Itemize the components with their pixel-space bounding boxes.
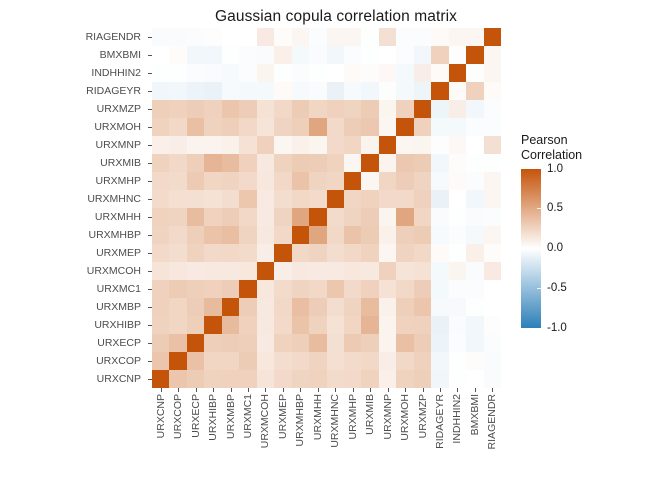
x-axis-label: URXMEP <box>278 394 289 439</box>
y-axis-label: URXCNP <box>0 370 145 388</box>
heatmap-cell <box>222 226 239 244</box>
heatmap-cell <box>449 298 466 316</box>
heatmap-cell <box>379 298 396 316</box>
heatmap-cell <box>327 100 344 118</box>
heatmap-cell <box>239 190 256 208</box>
heatmap-cell <box>431 226 448 244</box>
heatmap-cell <box>484 82 501 100</box>
heatmap-cell <box>169 100 186 118</box>
heatmap-cell <box>327 190 344 208</box>
heatmap-cell <box>396 100 413 118</box>
heatmap-panel <box>152 28 501 388</box>
heatmap-cell <box>379 172 396 190</box>
heatmap-cell <box>396 316 413 334</box>
x-axis-label: URXMCOH <box>260 394 271 448</box>
heatmap-cell <box>204 298 221 316</box>
heatmap-cell <box>274 28 291 46</box>
x-axis-label: RIDAGEYR <box>435 394 446 449</box>
heatmap-cell <box>169 82 186 100</box>
heatmap-cell <box>484 226 501 244</box>
heatmap-cell <box>152 370 169 388</box>
heatmap-cell <box>396 154 413 172</box>
heatmap-cell <box>344 46 361 64</box>
heatmap-cell <box>309 298 326 316</box>
heatmap-cell <box>169 352 186 370</box>
heatmap-cell <box>466 262 483 280</box>
heatmap-cell <box>152 28 169 46</box>
heatmap-cell <box>204 226 221 244</box>
heatmap-cell <box>466 244 483 262</box>
heatmap-cell <box>414 172 431 190</box>
heatmap-cell <box>344 136 361 154</box>
heatmap-cell <box>327 298 344 316</box>
heatmap-cell <box>379 46 396 64</box>
heatmap-cell <box>274 154 291 172</box>
heatmap-cell <box>222 352 239 370</box>
heatmap-cell <box>361 262 378 280</box>
legend-colorbar <box>521 169 541 328</box>
heatmap-cell <box>449 46 466 64</box>
heatmap-cell <box>466 370 483 388</box>
heatmap-cell <box>169 172 186 190</box>
heatmap-cell <box>466 100 483 118</box>
x-axis-label: URXMHNC <box>330 394 341 448</box>
x-axis-label: URXMNP <box>382 394 393 440</box>
heatmap-cell <box>152 226 169 244</box>
heatmap-cell <box>239 280 256 298</box>
heatmap-cell <box>327 280 344 298</box>
heatmap-cell <box>344 334 361 352</box>
x-axis-label-slot: URXMZP <box>414 394 431 476</box>
heatmap-cell <box>466 226 483 244</box>
heatmap-cell <box>484 136 501 154</box>
heatmap-cell <box>414 100 431 118</box>
heatmap-cell <box>414 28 431 46</box>
heatmap-cell <box>169 370 186 388</box>
heatmap-cell <box>466 118 483 136</box>
heatmap-cell <box>361 226 378 244</box>
y-axis-label: RIDAGEYR <box>0 82 145 100</box>
heatmap-cell <box>484 208 501 226</box>
heatmap-cell <box>309 208 326 226</box>
heatmap-cell <box>222 370 239 388</box>
heatmap-cell <box>309 370 326 388</box>
heatmap-cell <box>449 154 466 172</box>
heatmap-cell <box>309 82 326 100</box>
heatmap-cell <box>187 190 204 208</box>
heatmap-cell <box>222 334 239 352</box>
heatmap-cell <box>414 370 431 388</box>
heatmap-cell <box>239 334 256 352</box>
heatmap-cell <box>414 64 431 82</box>
heatmap-cell <box>361 154 378 172</box>
heatmap-cell <box>361 352 378 370</box>
y-axis-tick <box>145 298 152 316</box>
heatmap-cell <box>396 208 413 226</box>
x-axis-label-slot: URXECP <box>187 394 204 476</box>
heatmap-cell <box>484 316 501 334</box>
heatmap-cell <box>431 244 448 262</box>
heatmap-cell <box>344 316 361 334</box>
heatmap-cell <box>396 136 413 154</box>
heatmap-cell <box>239 172 256 190</box>
heatmap-cell <box>379 28 396 46</box>
x-axis-label: URXCOP <box>173 394 184 439</box>
x-axis-label: RIAGENDR <box>487 394 498 449</box>
heatmap-cell <box>361 298 378 316</box>
heatmap-cell <box>484 154 501 172</box>
heatmap-cell <box>152 316 169 334</box>
y-axis-tick <box>145 64 152 82</box>
heatmap-cell <box>414 244 431 262</box>
heatmap-cell <box>239 28 256 46</box>
heatmap-cell <box>466 46 483 64</box>
heatmap-cell <box>449 226 466 244</box>
heatmap-cell <box>204 118 221 136</box>
heatmap-cell <box>396 352 413 370</box>
heatmap-cell <box>484 370 501 388</box>
heatmap-cell <box>152 118 169 136</box>
heatmap-cell <box>204 154 221 172</box>
heatmap-cell <box>204 82 221 100</box>
y-axis-label: URXMCOH <box>0 262 145 280</box>
heatmap-cell <box>204 316 221 334</box>
heatmap-cell <box>222 64 239 82</box>
heatmap-cell <box>327 136 344 154</box>
heatmap-cell <box>152 208 169 226</box>
legend-tick-label: 1.0 <box>547 163 563 175</box>
heatmap-cell <box>222 298 239 316</box>
heatmap-cell <box>466 82 483 100</box>
heatmap-cell <box>169 154 186 172</box>
heatmap-cell <box>327 64 344 82</box>
heatmap-cell <box>292 28 309 46</box>
heatmap-cell <box>152 172 169 190</box>
heatmap-cell <box>344 64 361 82</box>
y-axis-tick <box>145 280 152 298</box>
heatmap-cell <box>187 352 204 370</box>
heatmap-cell <box>361 136 378 154</box>
heatmap-cell <box>257 100 274 118</box>
heatmap-cell <box>204 208 221 226</box>
heatmap-cell <box>222 46 239 64</box>
y-axis-tick <box>145 118 152 136</box>
heatmap-cell <box>309 136 326 154</box>
heatmap-cell <box>327 46 344 64</box>
heatmap-cell <box>257 352 274 370</box>
heatmap-cell <box>239 100 256 118</box>
heatmap-cell <box>239 64 256 82</box>
heatmap-cell <box>274 172 291 190</box>
heatmap-cell <box>257 262 274 280</box>
heatmap-cell <box>187 64 204 82</box>
heatmap-cell <box>414 190 431 208</box>
heatmap-cell <box>379 154 396 172</box>
heatmap-cell <box>449 28 466 46</box>
legend-tickmark <box>537 208 541 209</box>
heatmap-cell <box>274 280 291 298</box>
x-axis-label-slot: URXMNP <box>379 394 396 476</box>
heatmap-cell <box>379 64 396 82</box>
heatmap-cell <box>309 226 326 244</box>
heatmap-cell <box>274 136 291 154</box>
heatmap-cell <box>222 100 239 118</box>
heatmap-cell <box>431 334 448 352</box>
heatmap-cell <box>222 190 239 208</box>
x-axis-label: URXMHBP <box>295 394 306 447</box>
x-axis-label-slot: URXCOP <box>169 394 186 476</box>
heatmap-cell <box>274 100 291 118</box>
heatmap-cell <box>169 136 186 154</box>
heatmap-cell <box>414 226 431 244</box>
heatmap-cell <box>257 244 274 262</box>
heatmap-cell <box>169 208 186 226</box>
y-axis-tick <box>145 28 152 46</box>
heatmap-cell <box>292 316 309 334</box>
heatmap-cell <box>152 352 169 370</box>
heatmap-cell <box>152 46 169 64</box>
heatmap-cell <box>449 190 466 208</box>
heatmap-cell <box>239 46 256 64</box>
heatmap-cell <box>361 82 378 100</box>
heatmap-cell <box>309 352 326 370</box>
x-axis-label-slot: RIAGENDR <box>484 394 501 476</box>
heatmap-cell <box>379 352 396 370</box>
heatmap-cell <box>484 262 501 280</box>
x-axis-label: URXMIB <box>365 394 376 435</box>
heatmap-cell <box>484 118 501 136</box>
heatmap-cell <box>257 226 274 244</box>
heatmap-cell <box>414 352 431 370</box>
heatmap-cell <box>152 280 169 298</box>
heatmap-cell <box>257 118 274 136</box>
x-axis-label-slot: URXMC1 <box>239 394 256 476</box>
heatmap-cell <box>466 64 483 82</box>
heatmap-cell <box>257 190 274 208</box>
heatmap-cell <box>344 262 361 280</box>
heatmap-cell <box>309 46 326 64</box>
heatmap-cell <box>379 100 396 118</box>
heatmap-cell <box>484 172 501 190</box>
y-axis-label: URXMZP <box>0 100 145 118</box>
heatmap-cell <box>292 64 309 82</box>
heatmap-cell <box>187 136 204 154</box>
heatmap-cell <box>169 334 186 352</box>
y-axis-tick <box>145 82 152 100</box>
heatmap-cell <box>361 118 378 136</box>
heatmap-cell <box>361 280 378 298</box>
x-axis-label: BMXBMI <box>470 394 481 435</box>
legend-tick-label: 0.0 <box>547 242 563 254</box>
heatmap-cell <box>152 154 169 172</box>
y-axis-tick <box>145 100 152 118</box>
heatmap-cell <box>344 28 361 46</box>
heatmap-cell <box>414 298 431 316</box>
heatmap-cell <box>431 46 448 64</box>
heatmap-cell <box>187 46 204 64</box>
heatmap-cell <box>379 208 396 226</box>
heatmap-cell <box>187 28 204 46</box>
heatmap-cell <box>309 100 326 118</box>
heatmap-cell <box>431 280 448 298</box>
x-axis-label-slot: URXMHNC <box>327 394 344 476</box>
y-axis-label: URXCOP <box>0 352 145 370</box>
heatmap-cell <box>239 154 256 172</box>
heatmap-cell <box>361 370 378 388</box>
x-axis-label: URXHIBP <box>208 394 219 441</box>
heatmap-cell <box>484 334 501 352</box>
heatmap-cell <box>396 82 413 100</box>
heatmap-cell <box>361 100 378 118</box>
heatmap-cell <box>344 280 361 298</box>
heatmap-cell <box>449 262 466 280</box>
heatmap-cell <box>292 172 309 190</box>
heatmap-cell <box>292 226 309 244</box>
heatmap-cell <box>431 208 448 226</box>
heatmap-cell <box>396 244 413 262</box>
heatmap-cell <box>396 280 413 298</box>
heatmap-cell <box>327 82 344 100</box>
heatmap-cell <box>379 244 396 262</box>
heatmap-cell <box>222 136 239 154</box>
x-axis-label: URXMZP <box>417 394 428 438</box>
heatmap-cell <box>187 298 204 316</box>
heatmap-cell <box>327 334 344 352</box>
heatmap-cell <box>344 190 361 208</box>
heatmap-cell <box>274 226 291 244</box>
legend-tickmark <box>537 288 541 289</box>
heatmap-cell <box>309 28 326 46</box>
legend-tick-label: -0.5 <box>547 282 567 294</box>
heatmap-cell <box>257 172 274 190</box>
x-axis-label-slot: URXHIBP <box>204 394 221 476</box>
heatmap-cell <box>414 46 431 64</box>
heatmap-cell <box>344 172 361 190</box>
heatmap-cell <box>309 64 326 82</box>
heatmap-cell <box>431 370 448 388</box>
heatmap-cell <box>396 46 413 64</box>
heatmap-cell <box>414 262 431 280</box>
heatmap-cell <box>449 172 466 190</box>
heatmap-cell <box>274 208 291 226</box>
x-axis-label-slot: URXMOH <box>396 394 413 476</box>
heatmap-cell <box>204 334 221 352</box>
heatmap-cell <box>484 352 501 370</box>
heatmap-cell <box>431 118 448 136</box>
x-axis-label-slot: URXMIB <box>361 394 378 476</box>
heatmap-cell <box>449 64 466 82</box>
x-axis-labels: URXCNPURXCOPURXECPURXHIBPURXMBPURXMC1URX… <box>152 394 501 476</box>
heatmap-cell <box>466 280 483 298</box>
heatmap-cell <box>239 370 256 388</box>
heatmap-cell <box>169 280 186 298</box>
heatmap-cell <box>222 118 239 136</box>
heatmap-cell <box>292 118 309 136</box>
y-axis-label: URXMHH <box>0 208 145 226</box>
heatmap-cell <box>292 100 309 118</box>
heatmap-cell <box>344 118 361 136</box>
heatmap-cell <box>239 208 256 226</box>
heatmap-cell <box>379 190 396 208</box>
heatmap-cell <box>274 82 291 100</box>
heatmap-cell <box>449 244 466 262</box>
heatmap-cell <box>361 64 378 82</box>
heatmap-cell <box>239 298 256 316</box>
legend-body: 1.00.50.0-0.5-1.0 <box>521 169 661 328</box>
y-axis-label: URXMEP <box>0 244 145 262</box>
heatmap-cell <box>292 208 309 226</box>
heatmap-cell <box>169 46 186 64</box>
heatmap-cell <box>222 208 239 226</box>
heatmap-cell <box>344 82 361 100</box>
heatmap-cell <box>449 316 466 334</box>
heatmap-cell <box>292 154 309 172</box>
heatmap-cell <box>292 262 309 280</box>
heatmap-cell <box>361 46 378 64</box>
heatmap-cell <box>274 262 291 280</box>
y-axis-label: URXMC1 <box>0 280 145 298</box>
heatmap-cell <box>274 298 291 316</box>
heatmap-cell <box>396 190 413 208</box>
heatmap-cell <box>187 172 204 190</box>
heatmap-cell <box>222 28 239 46</box>
x-axis-label-slot: URXMEP <box>274 394 291 476</box>
x-axis-label-slot: RIDAGEYR <box>431 394 448 476</box>
heatmap-cell <box>274 316 291 334</box>
heatmap-cell <box>309 316 326 334</box>
heatmap-cell <box>414 154 431 172</box>
heatmap-cell <box>327 262 344 280</box>
heatmap-cell <box>431 298 448 316</box>
heatmap-cell <box>344 298 361 316</box>
heatmap-cell <box>222 280 239 298</box>
heatmap-cell <box>204 352 221 370</box>
heatmap-cell <box>257 280 274 298</box>
heatmap-cell <box>414 208 431 226</box>
x-axis-label-slot: URXMHBP <box>292 394 309 476</box>
x-axis-label: URXCNP <box>155 394 166 438</box>
heatmap-cell <box>187 208 204 226</box>
heatmap-cell <box>379 370 396 388</box>
heatmap-cell <box>484 190 501 208</box>
heatmap-cell <box>396 64 413 82</box>
heatmap-cell <box>484 244 501 262</box>
heatmap-cell <box>204 46 221 64</box>
heatmap-cell <box>274 118 291 136</box>
heatmap-cell <box>169 118 186 136</box>
heatmap-cell <box>292 136 309 154</box>
heatmap-cell <box>187 82 204 100</box>
y-axis-tick <box>145 316 152 334</box>
heatmap-cell <box>152 82 169 100</box>
x-axis-label-slot: URXCNP <box>152 394 169 476</box>
heatmap-cell <box>327 118 344 136</box>
heatmap-cell <box>187 226 204 244</box>
heatmap-cell <box>152 136 169 154</box>
heatmap-cell <box>239 316 256 334</box>
heatmap-cell <box>204 262 221 280</box>
heatmap-cell <box>222 172 239 190</box>
heatmap-cell <box>466 28 483 46</box>
heatmap-cell <box>204 370 221 388</box>
x-axis-label: URXMHP <box>347 394 358 440</box>
heatmap-cell <box>379 226 396 244</box>
heatmap-cell <box>449 280 466 298</box>
x-axis-label: URXMHH <box>313 394 324 440</box>
heatmap-cell <box>257 46 274 64</box>
heatmap-cell <box>292 280 309 298</box>
heatmap-cell <box>484 64 501 82</box>
